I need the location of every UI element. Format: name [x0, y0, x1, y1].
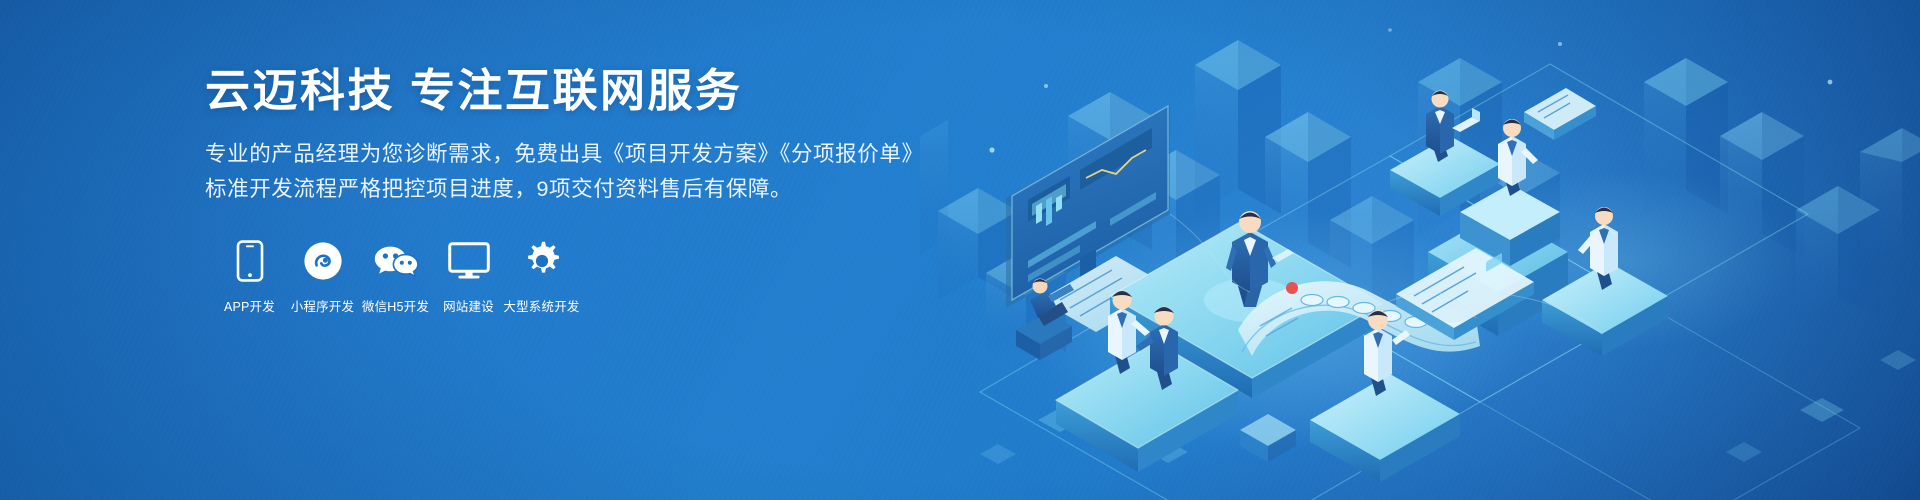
- monitor-icon: [448, 239, 490, 283]
- service-label-wechat-h5: 微信H5开发: [362, 296, 429, 315]
- service-icon-row: APP开发 小程序开发: [213, 239, 925, 315]
- service-item-mini-program[interactable]: 小程序开发: [286, 239, 359, 315]
- mini-program-icon: [303, 239, 343, 283]
- page-title: 云迈科技 专注互联网服务: [205, 66, 925, 116]
- subtitle-line-1: 专业的产品经理为您诊断需求，免费出具《项目开发方案》《分项报价单》: [205, 137, 925, 172]
- service-label-large-system: 大型系统开发: [503, 296, 579, 315]
- service-label-mini-program: 小程序开发: [291, 296, 355, 315]
- banner-text-column: 云迈科技 专注互联网服务 专业的产品经理为您诊断需求，免费出具《项目开发方案》《…: [205, 66, 925, 315]
- service-item-large-system[interactable]: 大型系统开发: [505, 239, 578, 315]
- service-item-wechat-h5[interactable]: 微信H5开发: [359, 239, 432, 315]
- banner-subtitle: 专业的产品经理为您诊断需求，免费出具《项目开发方案》《分项报价单》 标准开发流程…: [205, 137, 925, 207]
- service-item-website[interactable]: 网站建设: [432, 239, 505, 315]
- service-label-website: 网站建设: [443, 296, 494, 315]
- wechat-icon: [373, 239, 419, 283]
- service-item-app[interactable]: APP开发: [213, 239, 286, 315]
- gear-icon: [522, 239, 562, 283]
- service-label-app: APP开发: [224, 296, 275, 315]
- isometric-illustration: [920, 0, 1920, 500]
- subtitle-line-2: 标准开发流程严格把控项目进度，9项交付资料售后有保障。: [205, 172, 925, 207]
- hero-banner: 云迈科技 专注互联网服务 专业的产品经理为您诊断需求，免费出具《项目开发方案》《…: [0, 0, 1920, 500]
- mobile-phone-icon: [236, 239, 264, 283]
